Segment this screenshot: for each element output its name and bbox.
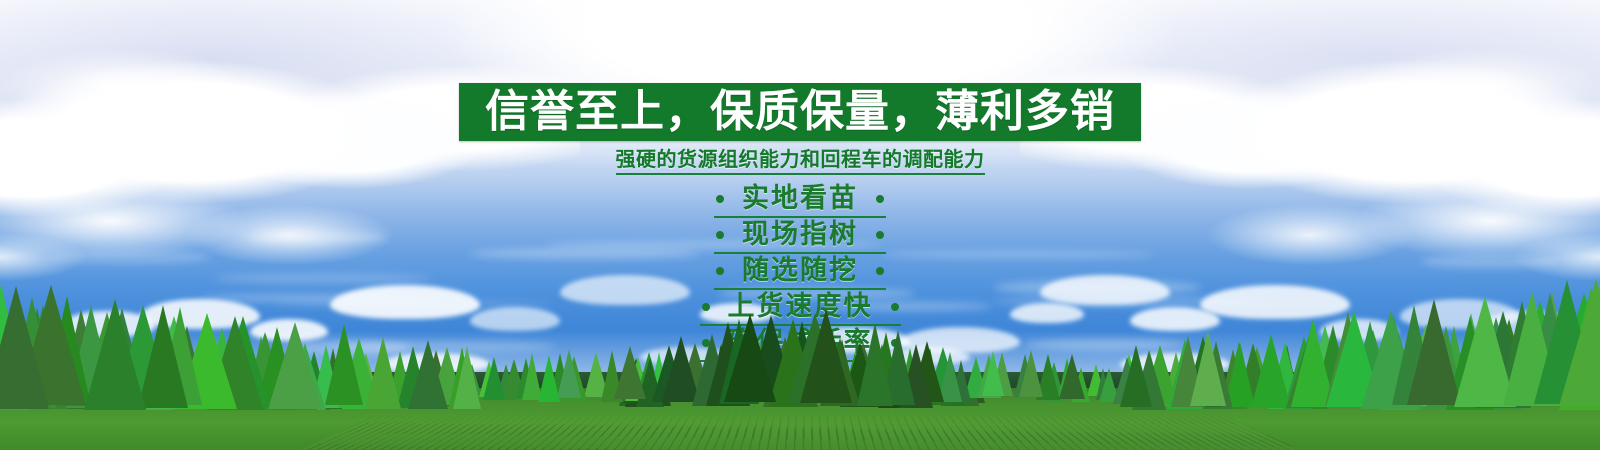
bullet-dot-icon (716, 267, 724, 275)
bullet-dot-icon (702, 303, 710, 311)
bullet-dot-icon (876, 231, 884, 239)
feature-item: 实地看苗 (714, 182, 886, 218)
feature-label: 现场指树 (724, 221, 876, 248)
subtitle-text: 强硬的货源组织能力和回程车的调配能力 (616, 148, 985, 175)
bullet-dot-icon (716, 231, 724, 239)
bullet-dot-icon (876, 267, 884, 275)
feature-label: 随选随挖 (724, 257, 876, 284)
bullet-dot-icon (876, 195, 884, 203)
feature-label: 实地看苗 (724, 185, 876, 212)
bullet-dot-icon (891, 303, 899, 311)
feature-item: 随选随挖 (714, 254, 886, 290)
bullet-dot-icon (716, 195, 724, 203)
promo-banner: 信誉至上，保质保量，薄利多销 强硬的货源组织能力和回程车的调配能力 实地看苗 现… (0, 0, 1600, 450)
feature-item: 现场指树 (714, 218, 886, 254)
headline-bar: 信誉至上，保质保量，薄利多销 (459, 83, 1141, 141)
headline-text: 信誉至上，保质保量，薄利多销 (485, 90, 1115, 134)
